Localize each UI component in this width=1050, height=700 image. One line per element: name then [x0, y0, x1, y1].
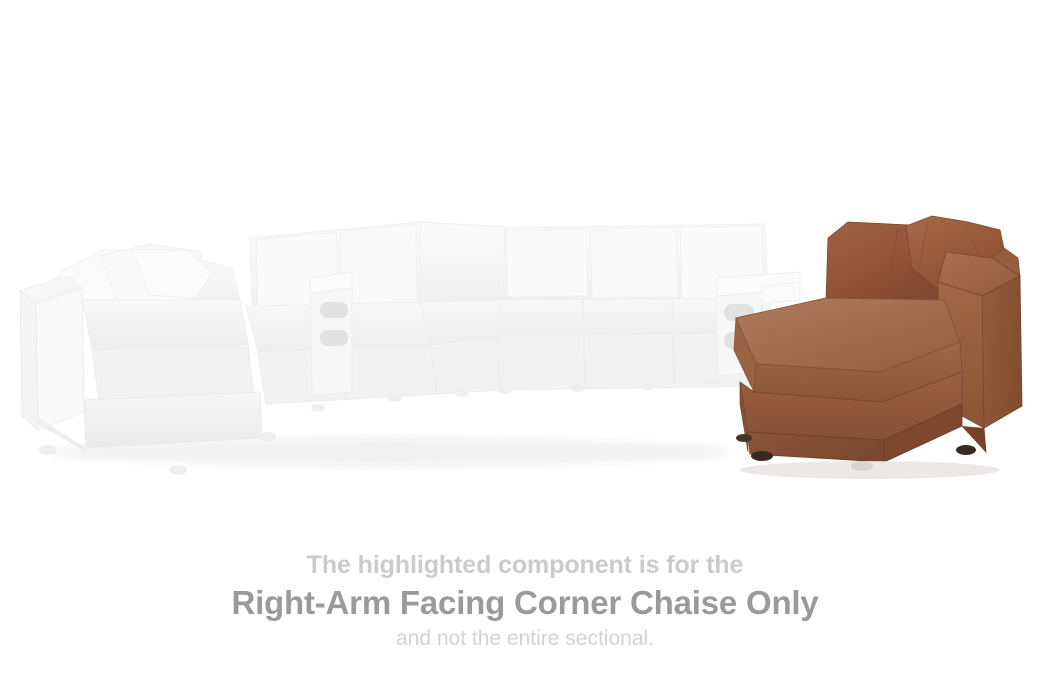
chaise-right-arm-outer: [982, 276, 1022, 428]
sectional-illustration: [0, 0, 1050, 530]
ghost-foot-3: [260, 432, 276, 442]
ghost-foot-8: [571, 384, 585, 392]
chaise-floor-shadow: [740, 461, 1000, 479]
caption-block: The highlighted component is for the Rig…: [0, 548, 1050, 654]
ghost-loveseat-arm-outer: [20, 290, 38, 430]
ghost-loveseat-base: [84, 392, 262, 448]
ghost-foot-7: [498, 386, 512, 394]
ghost-foot-4: [311, 404, 325, 412]
ghost-loveseat-seat-top: [82, 300, 248, 350]
ghost-foot-1: [39, 445, 57, 455]
chaise-foot-rear-right: [956, 445, 976, 455]
ghost-console-left: [310, 272, 352, 396]
ghost-foot-2: [169, 465, 187, 475]
caption-line-component-name: Right-Arm Facing Corner Chaise Only: [0, 582, 1050, 624]
ghost-cup-holder-2: [320, 330, 348, 346]
ghost-loveseat-arm-face: [36, 288, 84, 430]
ghost-console-right-panel: [762, 282, 800, 304]
caption-line-disclaimer: and not the entire sectional.: [0, 624, 1050, 654]
caption-line-primary: The highlighted component is for the: [0, 548, 1050, 582]
ghost-back-cushion-1: [506, 229, 588, 297]
ghost-wedge-back-cushion: [420, 222, 505, 302]
ghost-foot-9: [641, 382, 655, 390]
ghost-foot-6: [455, 389, 469, 397]
ghost-wedge-front: [430, 336, 500, 394]
chaise-foot-rear-left: [736, 434, 752, 442]
sectional-svg: [0, 0, 1050, 530]
ghost-foot-5: [388, 394, 402, 402]
ghost-back-cushion-2: [590, 227, 678, 298]
ghost-loveseat: [20, 244, 262, 452]
chaise-foot-front-left: [751, 451, 773, 461]
ghost-cup-holder-1: [320, 302, 348, 318]
ghosted-sectional-group: [20, 222, 800, 475]
product-highlight-screen: The highlighted component is for the Rig…: [0, 0, 1050, 700]
ghost-foot-10: [705, 380, 719, 388]
highlighted-chaise-group: [734, 216, 1022, 479]
